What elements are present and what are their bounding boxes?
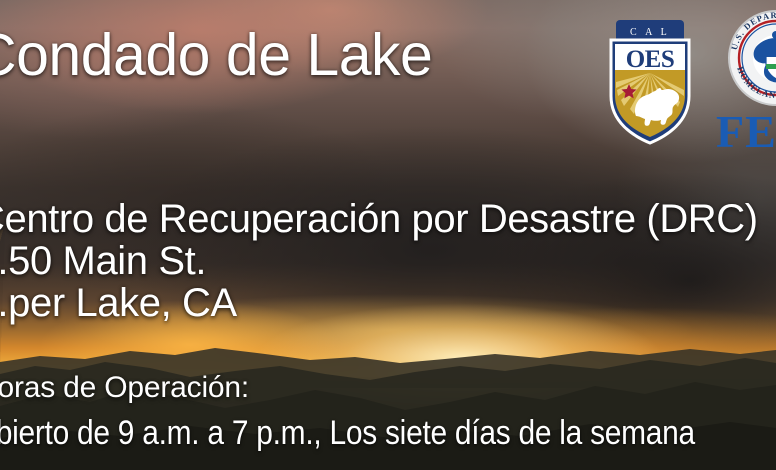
dhs-seal-icon: U.S. DEPARTMENT OF HOMELAND SECURITY bbox=[729, 10, 776, 105]
hours-value: Abierto de 9 a.m. a 7 p.m., Los siete dí… bbox=[0, 416, 695, 450]
fema-wordmark: FEMA bbox=[716, 106, 776, 156]
cal-oes-band-text: C A L bbox=[630, 27, 670, 38]
cal-oes-logo: C A L OES bbox=[606, 18, 694, 146]
cal-oes-acronym: OES bbox=[626, 46, 675, 73]
page-title: Condado de Lake bbox=[0, 26, 432, 85]
hours-label: Horas de Operación: bbox=[0, 373, 249, 403]
facility-city-state: ...per Lake, CA bbox=[0, 283, 237, 323]
facility-name: Centro de Recuperación por Desastre (DRC… bbox=[0, 199, 758, 239]
facility-street-address: ...50 Main St. bbox=[0, 241, 206, 281]
disaster-recovery-center-banner: Condado de Lake Centro de Recuperación p… bbox=[0, 0, 776, 470]
fema-logo: U.S. DEPARTMENT OF HOMELAND SECURITY bbox=[716, 8, 776, 156]
